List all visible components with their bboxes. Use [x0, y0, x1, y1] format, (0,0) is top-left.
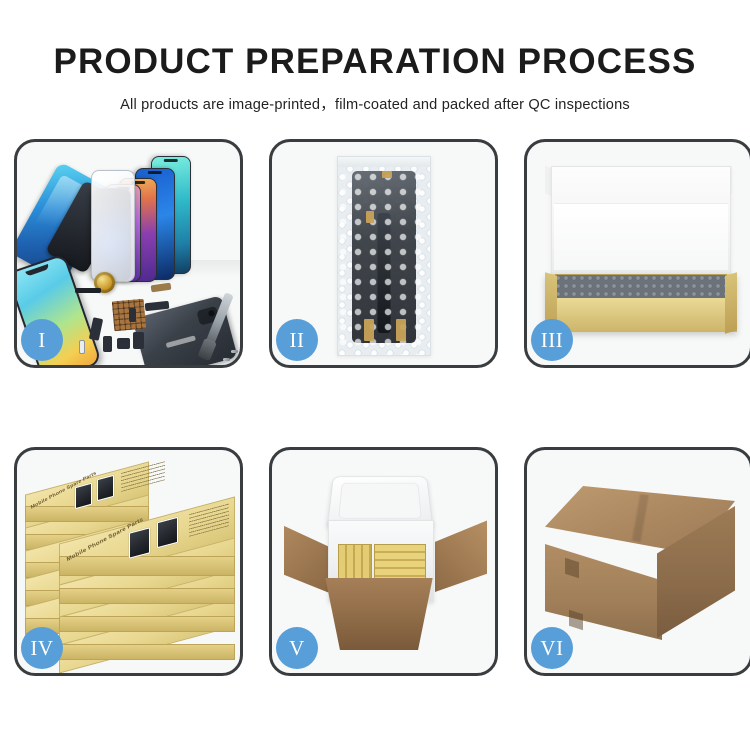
bubble-overlay — [338, 157, 430, 355]
carton-flap-left — [284, 520, 332, 594]
sealed-carton-icon — [545, 486, 735, 642]
step-badge-6: VI — [531, 627, 573, 669]
tempered-glass-icon — [91, 170, 135, 282]
bubble-wrap-bag-icon — [337, 156, 431, 356]
page-subtitle: All products are image-printed，film-coat… — [0, 93, 750, 114]
process-step-5[interactable]: V — [269, 447, 498, 676]
tape-tab-3 — [364, 319, 374, 341]
open-kraft-carton-icon — [318, 578, 440, 650]
component-bar-2 — [103, 336, 112, 352]
screw-icon-1 — [231, 350, 238, 353]
connector-icon — [79, 340, 85, 354]
process-step-2[interactable]: II — [269, 139, 498, 368]
page-root: PRODUCT PREPARATION PROCESS All products… — [0, 0, 750, 750]
tape-tab-1 — [382, 171, 392, 178]
header: PRODUCT PREPARATION PROCESS All products… — [0, 0, 750, 114]
step-badge-4: IV — [21, 627, 63, 669]
kraft-box-top-left: Mobile Phone Spare Parts — [25, 478, 149, 524]
bubble-wrap-layer — [555, 274, 727, 298]
component-bar-4 — [129, 308, 136, 322]
component-bar-3 — [133, 332, 144, 349]
process-step-4[interactable]: Mobile Phone Spare Parts — [14, 447, 243, 676]
step-badge-1: I — [21, 319, 63, 361]
process-step-1[interactable]: I — [14, 139, 243, 368]
tray-lip-right — [725, 272, 737, 333]
flex-cable-3 — [89, 317, 103, 341]
page-title: PRODUCT PREPARATION PROCESS — [0, 44, 750, 79]
tape-tab-2 — [366, 211, 374, 223]
step-badge-3: III — [531, 319, 573, 361]
tape-tab-4 — [396, 319, 406, 341]
component-bar-1 — [75, 288, 101, 293]
process-step-3[interactable]: III — [524, 139, 750, 368]
step-badge-5: V — [276, 627, 318, 669]
bag-seal — [338, 157, 430, 167]
camera-module-icon — [117, 338, 130, 349]
flex-cable-1 — [151, 283, 172, 293]
white-foam-lid-icon — [551, 166, 731, 282]
step-badge-2: II — [276, 319, 318, 361]
kraft-tray-icon — [545, 274, 737, 332]
carton-left-face — [545, 544, 662, 640]
screw-icon-2 — [223, 358, 230, 361]
carton-flap-right — [435, 516, 487, 592]
process-step-6[interactable]: VI — [524, 447, 750, 676]
tape-patch-bottom — [569, 610, 583, 631]
process-step-grid: I II — [14, 139, 736, 676]
kraft-box-front-1: Mobile Phone Spare Parts — [59, 520, 235, 582]
